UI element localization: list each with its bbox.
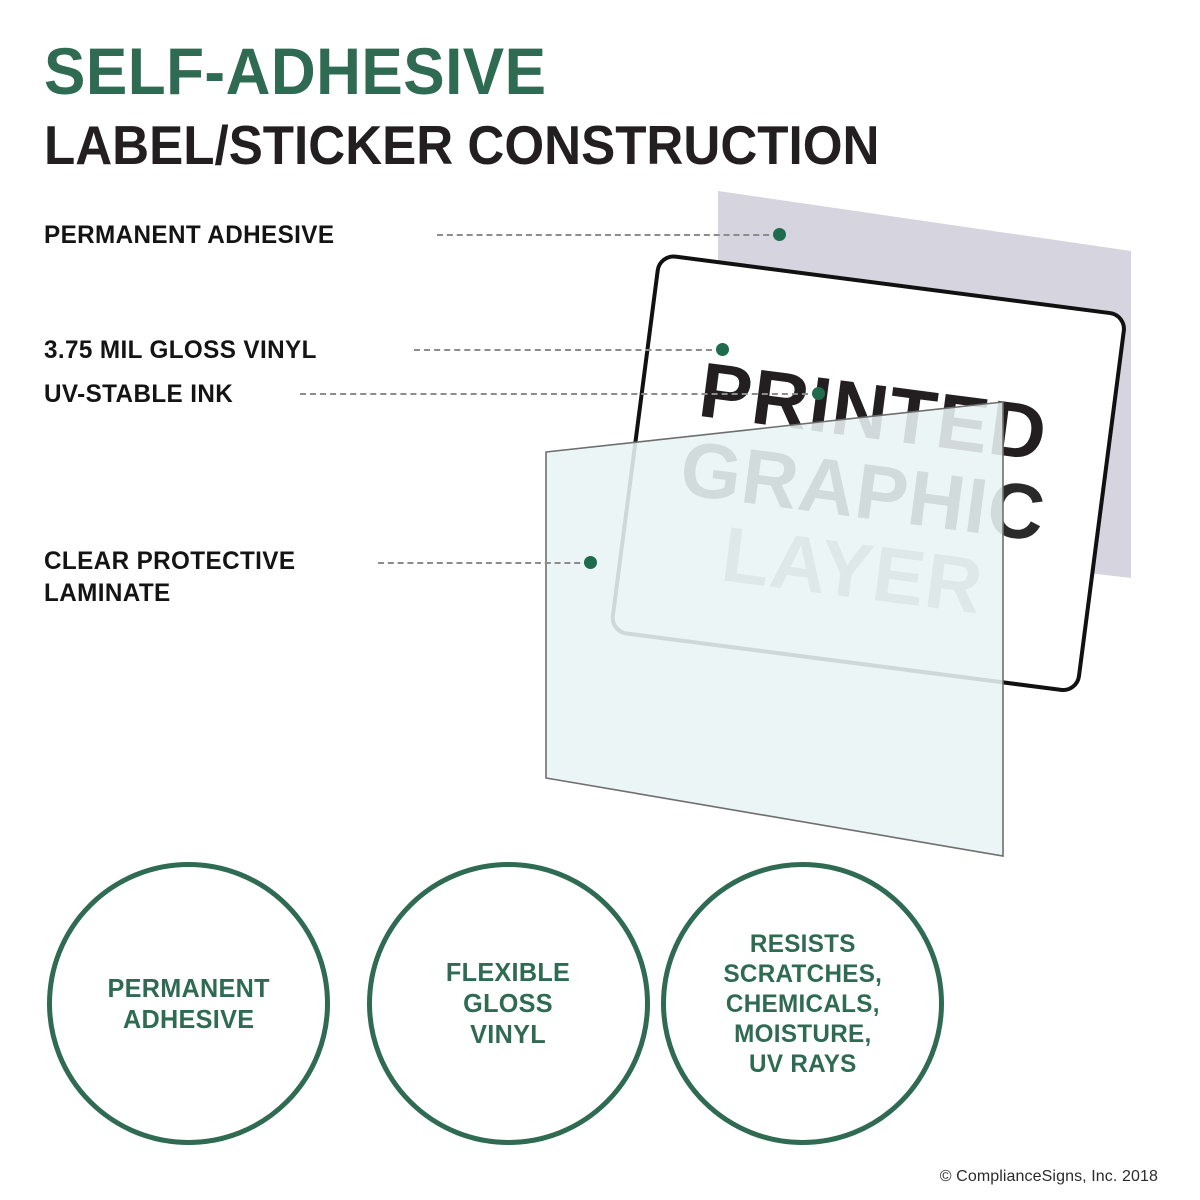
- benefit-circle-label-2: FLEXIBLE GLOSS VINYL: [446, 957, 570, 1050]
- copyright-notice: © ComplianceSigns, Inc. 2018: [940, 1168, 1158, 1186]
- callout-label-gloss-vinyl: 3.75 MIL GLOSS VINYL: [44, 334, 317, 366]
- callout-label-permanent-adhesive: PERMANENT ADHESIVE: [44, 219, 334, 251]
- leader-line-uv-stable-ink: [300, 393, 818, 395]
- leader-line-gloss-vinyl: [414, 349, 722, 351]
- layer-stack-diagram: PRINTED GRAPHIC LAYER: [0, 0, 1200, 900]
- connector-dot-uv-stable-ink: [812, 387, 825, 400]
- infographic-page: SELF-ADHESIVE LABEL/STICKER CONSTRUCTION…: [0, 0, 1200, 1200]
- clear-protective-laminate-layer: [546, 402, 1003, 856]
- connector-dot-clear-laminate: [584, 556, 597, 569]
- callout-label-uv-stable-ink: UV-STABLE INK: [44, 378, 233, 410]
- connector-dot-gloss-vinyl: [716, 343, 729, 356]
- connector-dot-permanent-adhesive: [773, 228, 786, 241]
- leader-line-clear-laminate: [378, 562, 590, 564]
- leader-line-permanent-adhesive: [437, 234, 779, 236]
- benefit-circle-flexible-gloss-vinyl: FLEXIBLE GLOSS VINYL: [367, 862, 650, 1145]
- callout-label-clear-laminate: CLEAR PROTECTIVE LAMINATE: [44, 545, 295, 609]
- benefit-circle-permanent-adhesive: PERMANENT ADHESIVE: [47, 862, 330, 1145]
- benefit-circle-resists: RESISTS SCRATCHES, CHEMICALS, MOISTURE, …: [661, 862, 944, 1145]
- benefit-circle-label-1: PERMANENT ADHESIVE: [107, 973, 269, 1035]
- benefit-circle-label-3: RESISTS SCRATCHES, CHEMICALS, MOISTURE, …: [723, 929, 882, 1079]
